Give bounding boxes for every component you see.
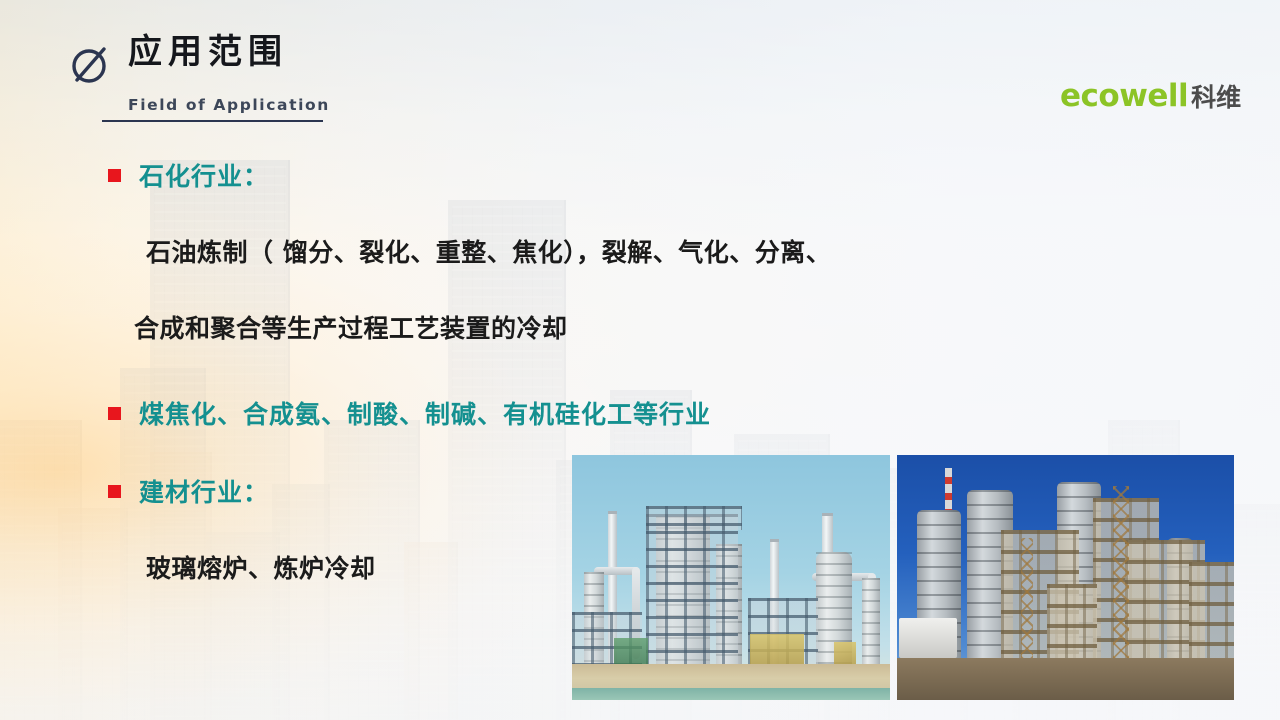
industrial-plant-photo <box>897 455 1234 700</box>
photo-ground <box>897 658 1234 700</box>
petrochemical-refinery-photo <box>572 455 890 700</box>
bullet-item-chemical-industries: 煤焦化、合成氨、制酸、制碱、有机硅化工等行业 <box>108 395 711 431</box>
body-line-furnace-cooling: 玻璃熔炉、炼炉冷却 <box>146 549 376 585</box>
bullet-label: 石化行业： <box>139 157 269 193</box>
body-line-synthesis-cooling: 合成和聚合等生产过程工艺装置的冷却 <box>134 309 568 345</box>
photo-foreground <box>572 688 890 700</box>
body-text: 合成和聚合等生产过程工艺装置的冷却 <box>134 309 568 345</box>
bullet-item-building-materials-heading: 建材行业： <box>108 473 269 509</box>
body-text: 玻璃熔炉、炼炉冷却 <box>146 549 376 585</box>
square-bullet-icon <box>108 485 121 498</box>
slide-canvas: 应用范围 Field of Application ecowell 科维 石化行… <box>0 0 1280 720</box>
square-bullet-icon <box>108 407 121 420</box>
bullet-label: 建材行业： <box>139 473 269 509</box>
square-bullet-icon <box>108 169 121 182</box>
body-line-refining-processes: 石油炼制（ 馏分、裂化、重整、焦化），裂解、气化、分离、 <box>146 233 831 269</box>
bullet-item-petrochemical-heading: 石化行业： <box>108 157 269 193</box>
body-text: 石油炼制（ 馏分、裂化、重整、焦化），裂解、气化、分离、 <box>146 233 831 269</box>
bullet-label: 煤焦化、合成氨、制酸、制碱、有机硅化工等行业 <box>139 395 711 431</box>
